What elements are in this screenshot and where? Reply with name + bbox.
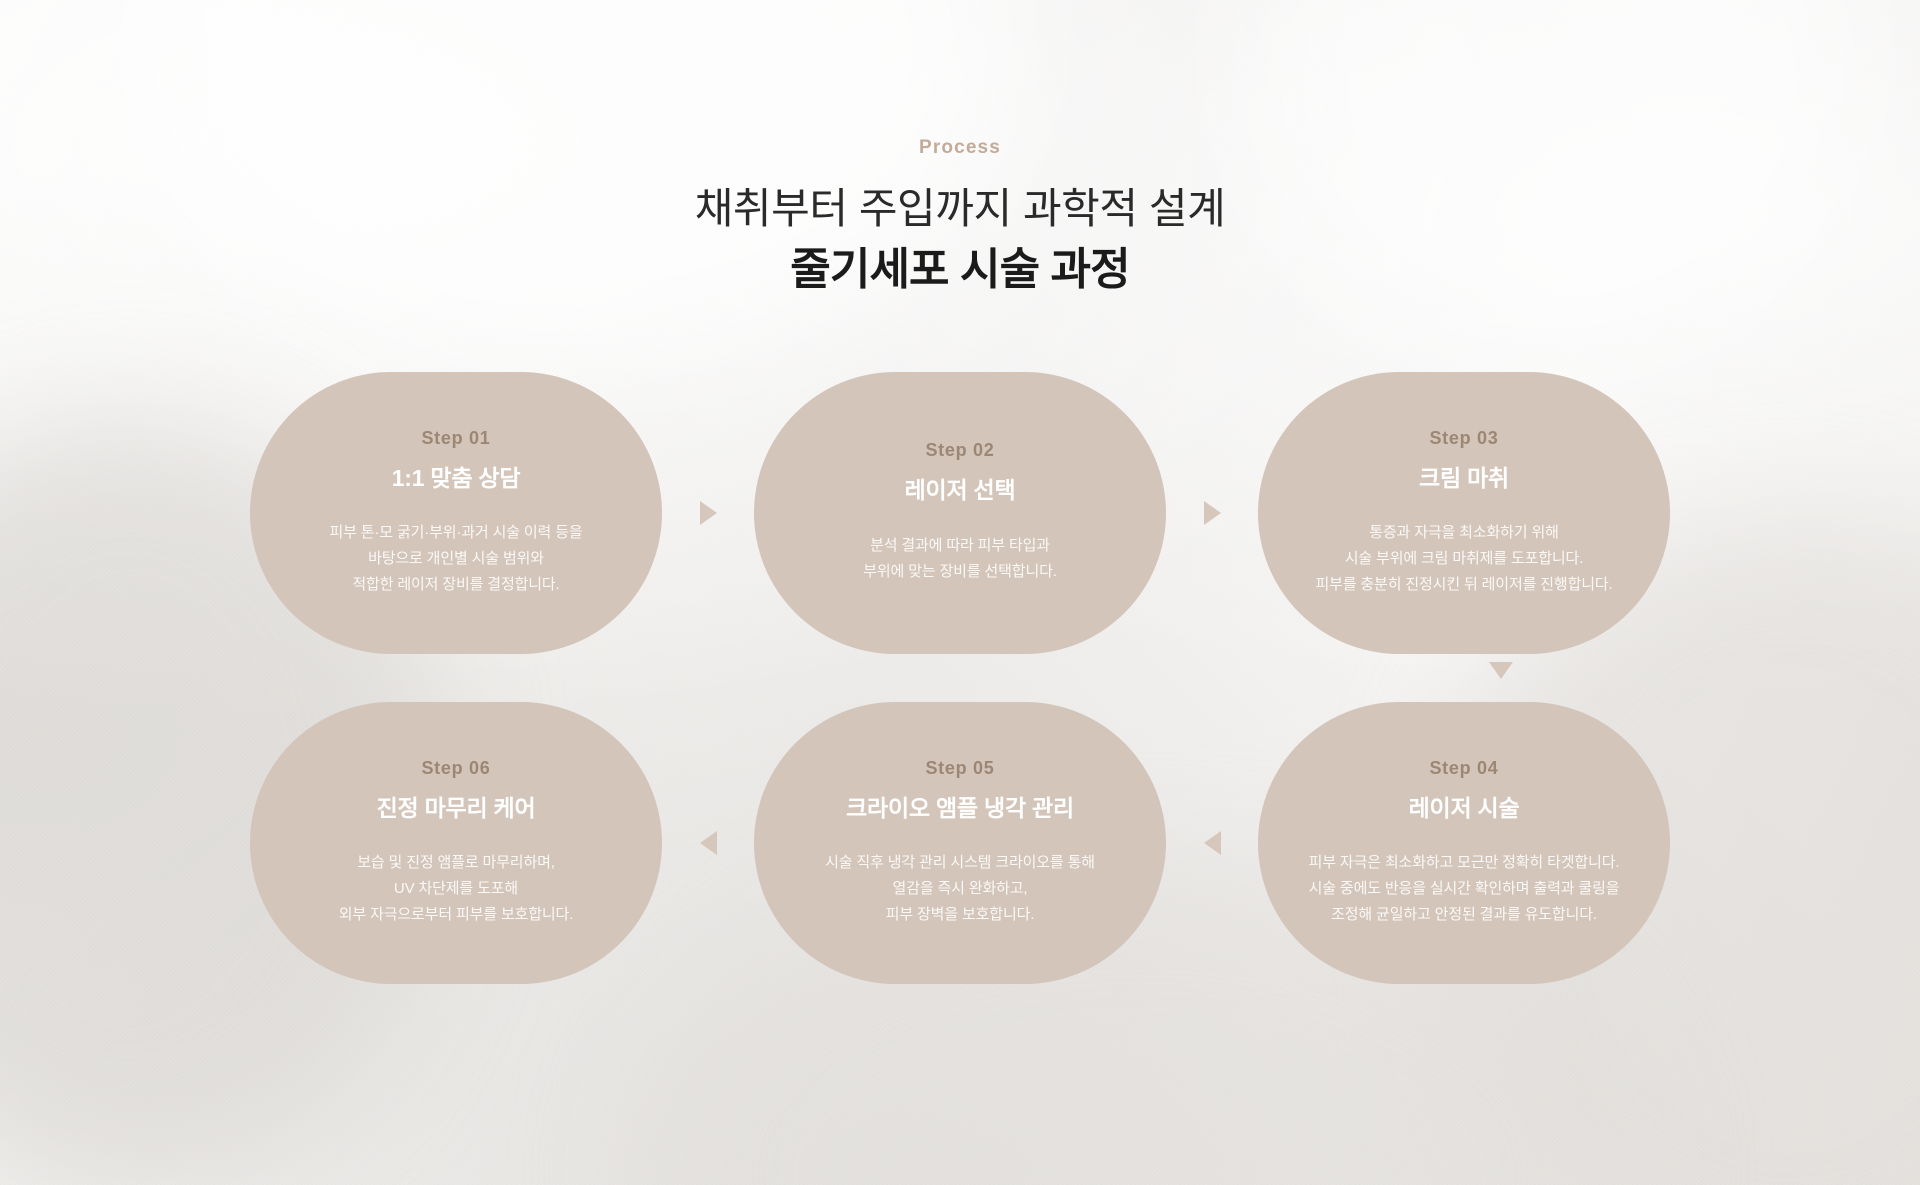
process-step-card-03[interactable]: Step 03 크림 마취 통증과 자극을 최소화하기 위해 시술 부위에 크림… xyxy=(1258,372,1670,654)
step-description-line: 시술 직후 냉각 관리 시스템 크라이오를 통해 xyxy=(825,850,1095,876)
step-description-line: 시술 중에도 반응을 실시간 확인하며 출력과 쿨링을 xyxy=(1309,876,1620,902)
step-description-line: 피부 톤·모 굵기·부위·과거 시술 이력 등을 xyxy=(329,520,582,546)
step-label: Step 04 xyxy=(1429,759,1498,777)
step-description: 통증과 자극을 최소화하기 위해 시술 부위에 크림 마취제를 도포합니다. 피… xyxy=(1315,520,1612,597)
step-description: 피부 톤·모 굵기·부위·과거 시술 이력 등을 바탕으로 개인별 시술 범위와… xyxy=(329,520,582,597)
step-title: 크림 마취 xyxy=(1419,465,1509,493)
step-label: Step 05 xyxy=(925,759,994,777)
arrow-right-icon xyxy=(700,501,717,525)
arrow-left-icon xyxy=(700,831,717,855)
step-title: 크라이오 앰플 냉각 관리 xyxy=(846,795,1074,823)
section-subtitle: 채취부터 주입까지 과학적 설계 xyxy=(0,182,1920,236)
section-header: Process 채취부터 주입까지 과학적 설계 줄기세포 시술 과정 xyxy=(0,138,1920,298)
process-step-card-01[interactable]: Step 01 1:1 맞춤 상담 피부 톤·모 굵기·부위·과거 시술 이력 … xyxy=(250,372,662,654)
step-description-line: 피부 장벽을 보호합니다. xyxy=(825,902,1095,928)
step-description-line: 피부 자극은 최소화하고 모근만 정확히 타겟합니다. xyxy=(1309,850,1620,876)
step-description-line: 보습 및 진정 앰플로 마무리하며, xyxy=(339,850,573,876)
step-description-line: 열감을 즉시 완화하고, xyxy=(825,876,1095,902)
process-steps-grid: Step 01 1:1 맞춤 상담 피부 톤·모 굵기·부위·과거 시술 이력 … xyxy=(250,372,1670,984)
process-step-card-04[interactable]: Step 04 레이저 시술 피부 자극은 최소화하고 모근만 정확히 타겟합니… xyxy=(1258,702,1670,984)
step-description-line: 적합한 레이저 장비를 결정합니다. xyxy=(329,572,582,598)
step-title: 진정 마무리 케어 xyxy=(377,795,536,823)
arrow-down-icon xyxy=(1489,662,1513,679)
arrow-right-icon xyxy=(1204,501,1221,525)
step-description-line: 바탕으로 개인별 시술 범위와 xyxy=(329,546,582,572)
step-description-line: 통증과 자극을 최소화하기 위해 xyxy=(1315,520,1612,546)
step-description-line: UV 차단제를 도포해 xyxy=(339,876,573,902)
step-label: Step 01 xyxy=(421,429,490,447)
process-step-card-05[interactable]: Step 05 크라이오 앰플 냉각 관리 시술 직후 냉각 관리 시스템 크라… xyxy=(754,702,1166,984)
process-step-card-06[interactable]: Step 06 진정 마무리 케어 보습 및 진정 앰플로 마무리하며, UV … xyxy=(250,702,662,984)
step-description-line: 분석 결과에 따라 피부 타입과 xyxy=(863,533,1057,559)
step-title: 레이저 시술 xyxy=(1409,795,1520,823)
process-step-card-02[interactable]: Step 02 레이저 선택 분석 결과에 따라 피부 타입과 부위에 맞는 장… xyxy=(754,372,1166,654)
step-description: 분석 결과에 따라 피부 타입과 부위에 맞는 장비를 선택합니다. xyxy=(863,533,1057,585)
step-description-line: 조정해 균일하고 안정된 결과를 유도합니다. xyxy=(1309,902,1620,928)
process-section: Process 채취부터 주입까지 과학적 설계 줄기세포 시술 과정 Step… xyxy=(0,0,1920,1185)
arrow-left-icon xyxy=(1204,831,1221,855)
step-description-line: 부위에 맞는 장비를 선택합니다. xyxy=(863,559,1057,585)
step-description-line: 외부 자극으로부터 피부를 보호합니다. xyxy=(339,902,573,928)
step-label: Step 02 xyxy=(925,441,994,459)
section-eyebrow: Process xyxy=(0,138,1920,157)
step-description-line: 피부를 충분히 진정시킨 뒤 레이저를 진행합니다. xyxy=(1315,572,1612,598)
step-title: 1:1 맞춤 상담 xyxy=(392,465,521,493)
step-description: 시술 직후 냉각 관리 시스템 크라이오를 통해 열감을 즉시 완화하고, 피부… xyxy=(825,850,1095,927)
process-row-top: Step 01 1:1 맞춤 상담 피부 톤·모 굵기·부위·과거 시술 이력 … xyxy=(250,372,1670,654)
step-label: Step 03 xyxy=(1429,429,1498,447)
step-description: 보습 및 진정 앰플로 마무리하며, UV 차단제를 도포해 외부 자극으로부터… xyxy=(339,850,573,927)
page-title: 줄기세포 시술 과정 xyxy=(0,242,1920,298)
step-description: 피부 자극은 최소화하고 모근만 정확히 타겟합니다. 시술 중에도 반응을 실… xyxy=(1309,850,1620,927)
step-description-line: 시술 부위에 크림 마취제를 도포합니다. xyxy=(1315,546,1612,572)
process-row-bottom: Step 06 진정 마무리 케어 보습 및 진정 앰플로 마무리하며, UV … xyxy=(250,702,1670,984)
step-title: 레이저 선택 xyxy=(905,477,1016,505)
step-label: Step 06 xyxy=(421,759,490,777)
